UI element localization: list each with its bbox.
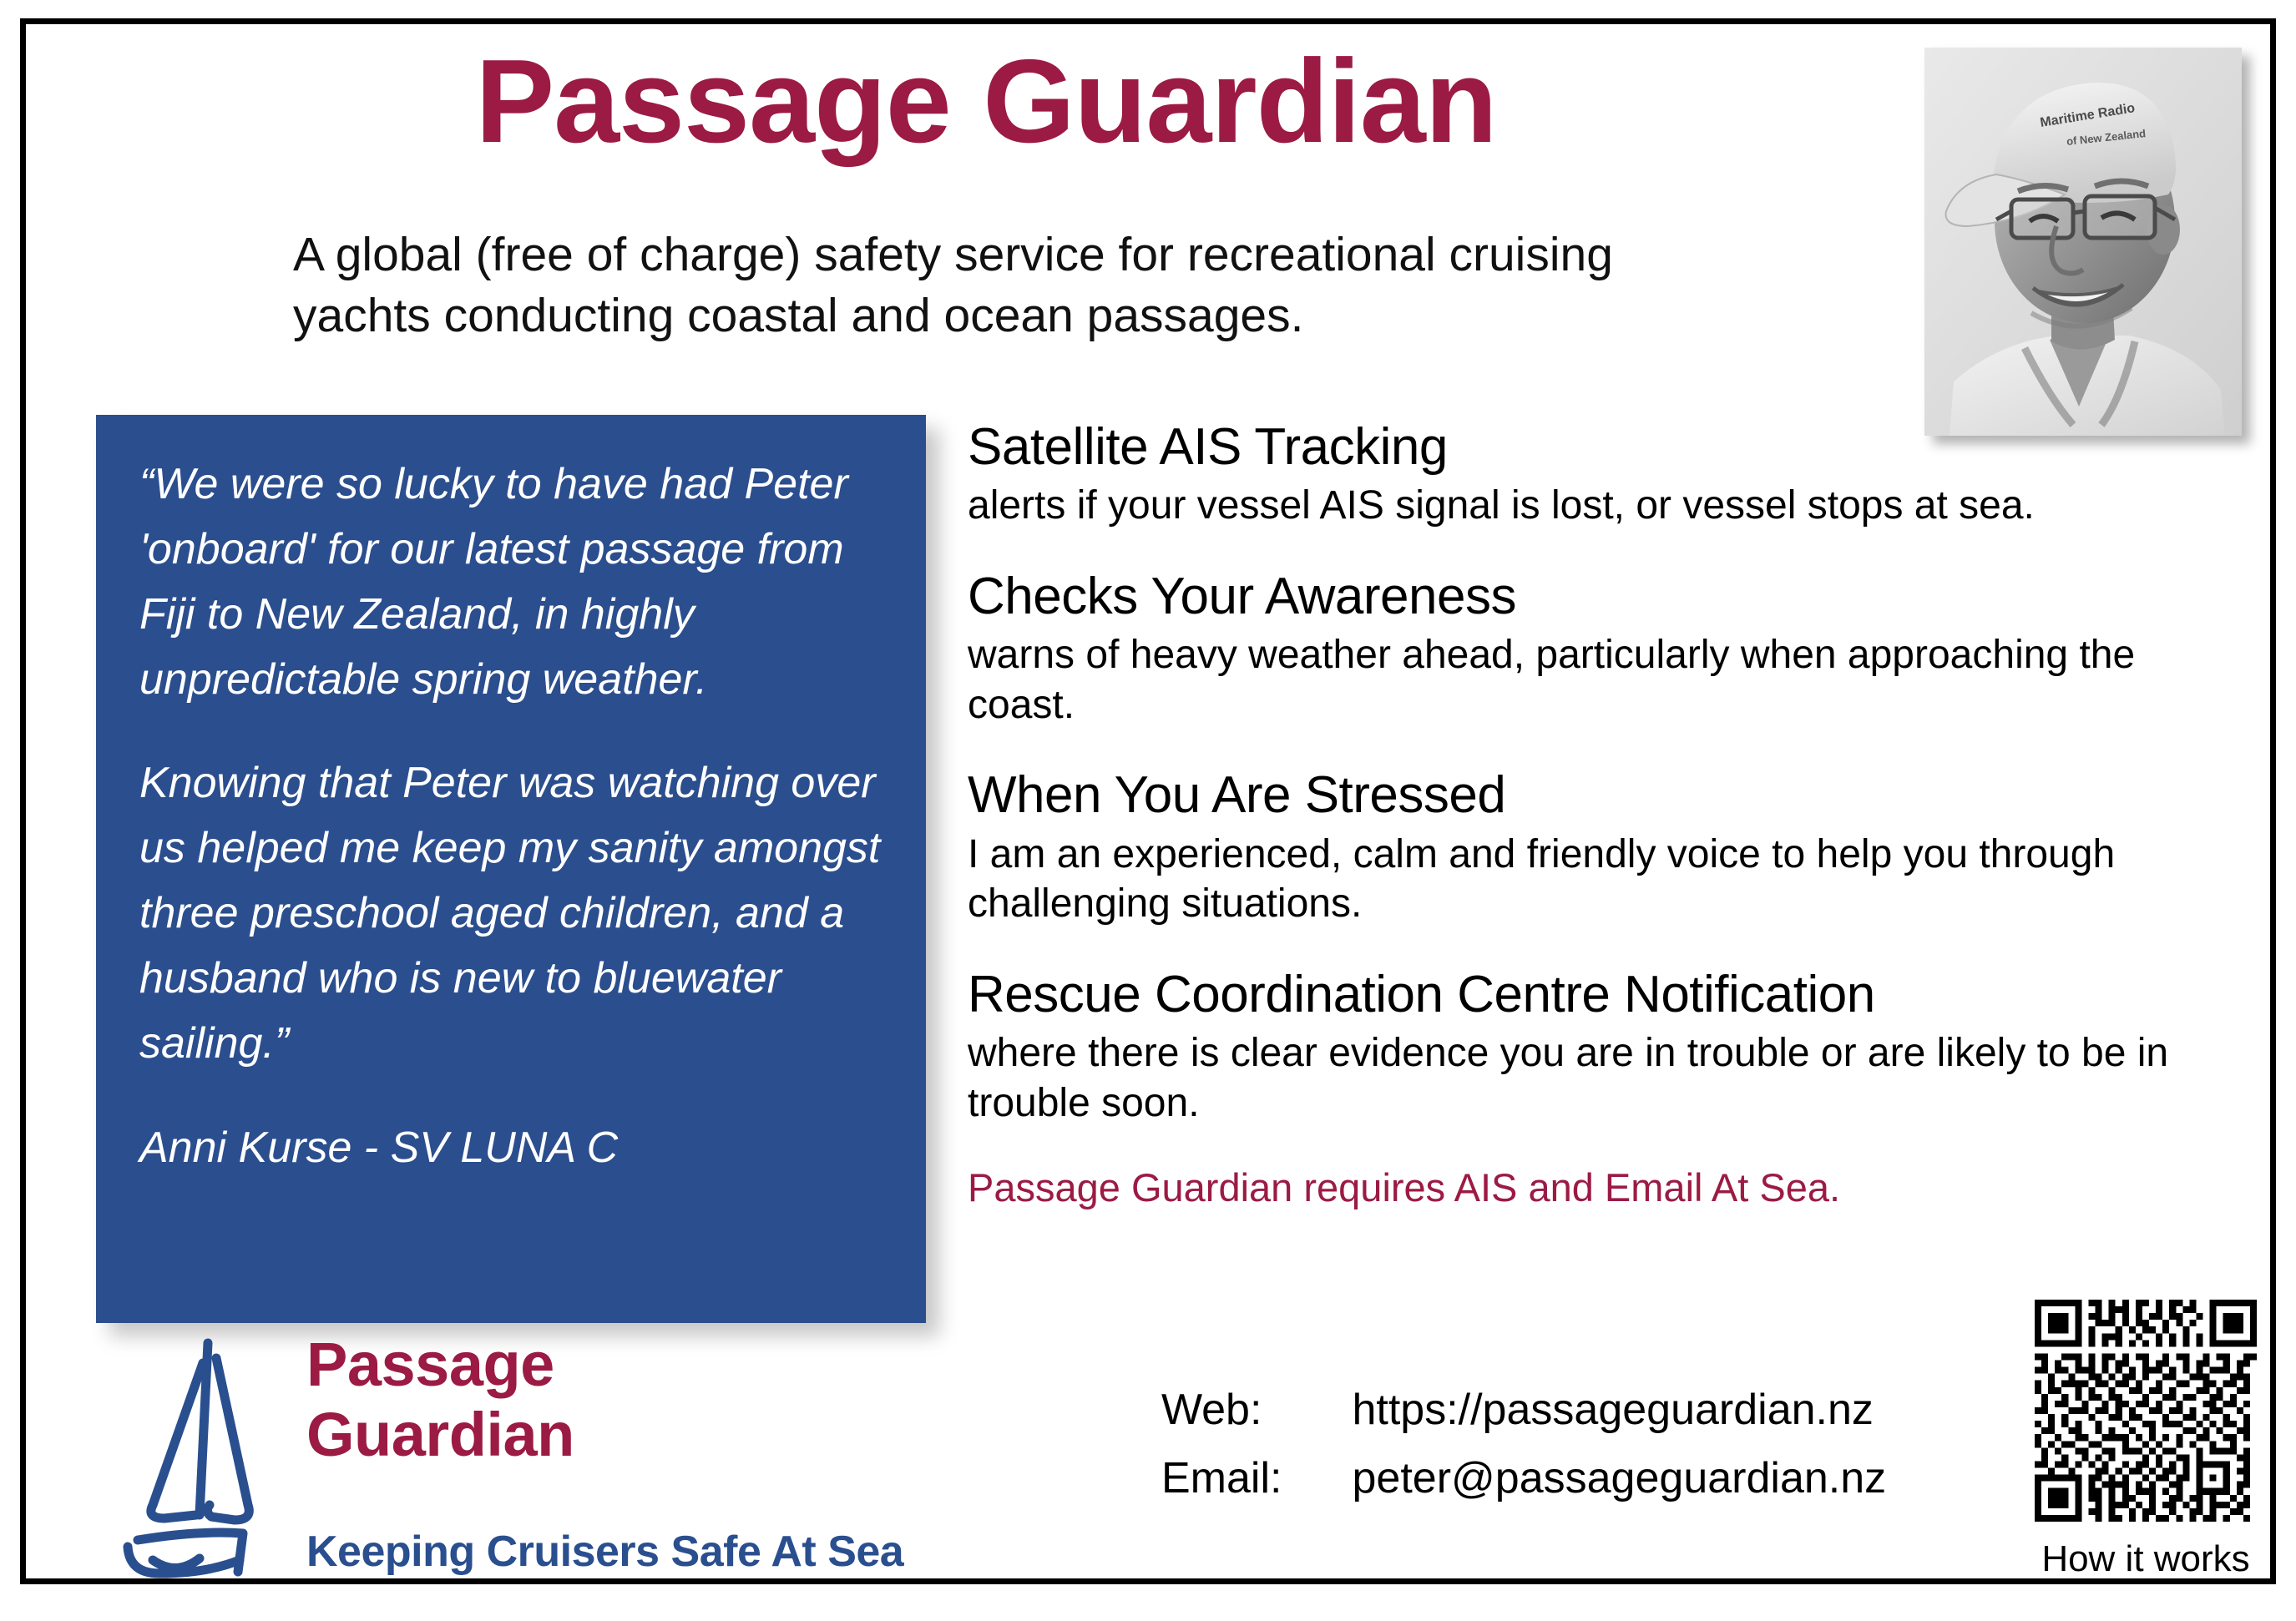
feature-heading: Rescue Coordination Centre Notification bbox=[968, 966, 2203, 1023]
page-subtitle: A global (free of charge) safety service… bbox=[293, 225, 1762, 346]
testimonial-paragraph-2: Knowing that Peter was watching over us … bbox=[139, 750, 882, 1076]
email-label: Email: bbox=[1161, 1453, 1352, 1522]
page-title: Passage Guardian bbox=[301, 43, 1671, 161]
feature-body: alerts if your vessel AIS signal is lost… bbox=[968, 481, 2203, 531]
sailboat-icon-graphic bbox=[116, 1333, 300, 1583]
brand-name-line-1: Passage bbox=[306, 1330, 574, 1400]
web-value[interactable]: https://passageguardian.nz bbox=[1352, 1385, 1886, 1453]
brand-name-line-2: Guardian bbox=[306, 1400, 574, 1470]
testimonial-paragraph-1: “We were so lucky to have had Peter 'onb… bbox=[139, 452, 882, 712]
portrait-photo-graphic: Maritime Radio of New Zealand bbox=[1924, 48, 2242, 436]
contact-row-email: Email: peter@passageguardian.nz bbox=[1161, 1453, 1886, 1522]
qr-caption: How it works bbox=[2035, 1538, 2257, 1580]
email-value[interactable]: peter@passageguardian.nz bbox=[1352, 1453, 1886, 1522]
contact-table: Web: https://passageguardian.nz Email: p… bbox=[1161, 1385, 1886, 1522]
portrait-photo: Maritime Radio of New Zealand bbox=[1924, 48, 2242, 436]
feature-body: warns of heavy weather ahead, particular… bbox=[968, 630, 2203, 730]
feature-body: where there is clear evidence you are in… bbox=[968, 1028, 2203, 1128]
feature-item-when-you-are-stressed: When You Are Stressed I am an experience… bbox=[968, 766, 2203, 928]
feature-item-satellite-ais-tracking: Satellite AIS Tracking alerts if your ve… bbox=[968, 418, 2203, 531]
feature-body: I am an experienced, calm and friendly v… bbox=[968, 830, 2203, 929]
qr-code-block[interactable]: How it works bbox=[2035, 1300, 2257, 1580]
brand-logo-block: Passage Guardian Keeping Cruisers Safe A… bbox=[116, 1333, 918, 1583]
brand-name: Passage Guardian bbox=[306, 1330, 574, 1471]
testimonial-box: “We were so lucky to have had Peter 'onb… bbox=[96, 415, 926, 1323]
web-label: Web: bbox=[1161, 1385, 1352, 1453]
requirement-note: Passage Guardian requires AIS and Email … bbox=[968, 1164, 2203, 1211]
brand-tagline: Keeping Cruisers Safe At Sea bbox=[306, 1527, 903, 1577]
contact-row-web: Web: https://passageguardian.nz bbox=[1161, 1385, 1886, 1453]
feature-item-rescue-coordination-centre-notification: Rescue Coordination Centre Notification … bbox=[968, 966, 2203, 1128]
feature-heading: When You Are Stressed bbox=[968, 766, 2203, 824]
poster-container: Passage Guardian A global (free of charg… bbox=[20, 18, 2276, 1584]
sailboat-icon bbox=[116, 1333, 300, 1583]
qr-code-icon[interactable] bbox=[2035, 1300, 2257, 1522]
feature-heading: Checks Your Awareness bbox=[968, 568, 2203, 625]
contact-block: Web: https://passageguardian.nz Email: p… bbox=[1161, 1385, 1886, 1522]
feature-item-checks-your-awareness: Checks Your Awareness warns of heavy wea… bbox=[968, 568, 2203, 730]
testimonial-attribution: Anni Kurse - SV LUNA C bbox=[139, 1118, 882, 1179]
features-list: Satellite AIS Tracking alerts if your ve… bbox=[968, 418, 2203, 1212]
feature-heading: Satellite AIS Tracking bbox=[968, 418, 2203, 476]
